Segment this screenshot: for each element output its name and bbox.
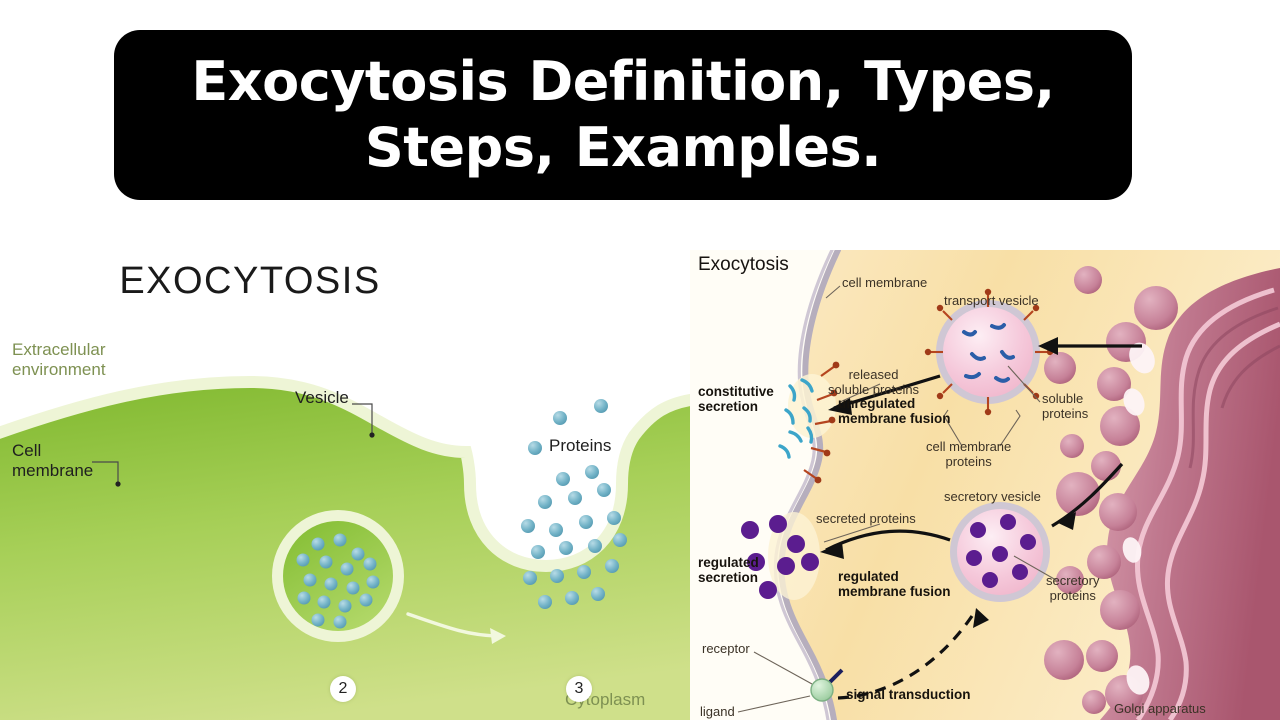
label-transport-vesicle: transport vesicle <box>944 294 1039 309</box>
label-ligand: ligand <box>700 705 735 720</box>
vesicle-anchor-dot <box>369 432 374 437</box>
label-cell-membrane-right: cell membrane <box>842 276 927 291</box>
left-diagram-graphic <box>0 236 690 720</box>
label-receptor: receptor <box>702 642 750 657</box>
page-title: Exocytosis Definition, Types, Steps, Exa… <box>148 49 1098 181</box>
label-proteins: Proteins <box>549 436 611 456</box>
right-diagram-heading: Exocytosis <box>698 254 789 276</box>
step-number-2: 2 <box>330 676 356 702</box>
vesicle-step-2 <box>272 510 404 642</box>
label-cell-membrane: Cell membrane <box>12 441 93 480</box>
label-regulated-membrane-fusion: regulated membrane fusion <box>838 569 951 600</box>
label-soluble-proteins: soluble proteins <box>1042 392 1088 422</box>
label-vesicle: Vesicle <box>295 388 349 408</box>
title-banner: Exocytosis Definition, Types, Steps, Exa… <box>114 30 1132 200</box>
right-exocytosis-diagram: Exocytosis cell membrane transport vesic… <box>690 250 1280 720</box>
label-golgi-apparatus: Golgi apparatus <box>1114 702 1206 717</box>
label-signal-transduction: signal transduction <box>846 687 971 702</box>
label-extracellular-environment: Extracellular environment <box>12 340 106 379</box>
left-exocytosis-diagram: EXOCYTOSIS <box>0 236 690 720</box>
label-released-soluble-proteins: released soluble proteins <box>828 368 919 398</box>
secretory-vesicle <box>950 502 1050 602</box>
label-secretory-vesicle: secretory vesicle <box>944 490 1041 505</box>
cell-membrane-anchor-dot <box>115 481 120 486</box>
label-regulated-secretion: regulated secretion <box>698 555 759 586</box>
step-number-3: 3 <box>566 676 592 702</box>
diagram-row: EXOCYTOSIS <box>0 236 1280 720</box>
label-cell-membrane-proteins: cell membrane proteins <box>926 440 1011 470</box>
right-diagram-graphic <box>690 250 1280 720</box>
label-secretory-proteins: secretory proteins <box>1046 574 1099 604</box>
label-unregulated-membrane-fusion: unregulated membrane fusion <box>838 396 951 427</box>
label-secreted-proteins: secreted proteins <box>816 512 916 527</box>
label-constitutive-secretion: constitutive secretion <box>698 384 774 415</box>
